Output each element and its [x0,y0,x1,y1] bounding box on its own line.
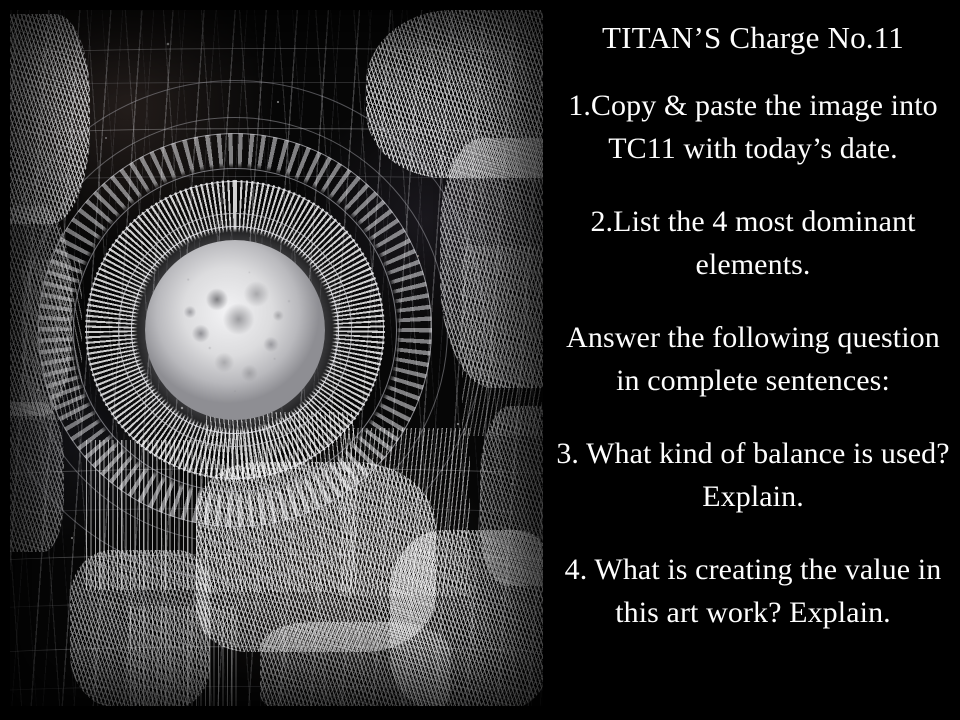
page-title: TITAN’S Charge No.11 [546,18,960,58]
slide: TITAN’S Charge No.11 1.Copy & paste the … [0,0,960,720]
instruction-item-1: 1.Copy & paste the image into TC11 with … [546,84,960,170]
artwork-image [10,10,543,706]
instructions-stack: TITAN’S Charge No.11 1.Copy & paste the … [546,18,960,634]
instruction-prompt: Answer the following question in complet… [546,316,960,402]
vignette [10,10,543,706]
instruction-item-3: 3. What kind of balance is used? Explain… [546,432,960,518]
instruction-item-4: 4. What is creating the value in this ar… [546,548,960,634]
instructions-panel: TITAN’S Charge No.11 1.Copy & paste the … [546,0,960,720]
instruction-item-2: 2.List the 4 most dominant elements. [546,200,960,286]
